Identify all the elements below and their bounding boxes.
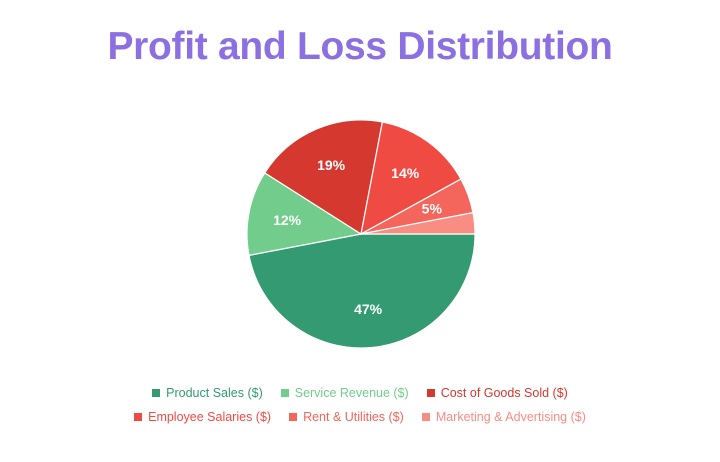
legend-row: Employee Salaries ($)Rent & Utilities ($… bbox=[0, 410, 720, 424]
pie-svg: 47%12%19%14%5% bbox=[247, 120, 475, 348]
legend-item-label: Marketing & Advertising ($) bbox=[436, 410, 586, 424]
legend-item[interactable]: Product Sales ($) bbox=[152, 386, 263, 400]
legend-swatch-icon bbox=[152, 389, 160, 397]
legend-item[interactable]: Employee Salaries ($) bbox=[134, 410, 271, 424]
legend-item-label: Product Sales ($) bbox=[166, 386, 263, 400]
legend-item[interactable]: Service Revenue ($) bbox=[281, 386, 409, 400]
pie-slice-label: 47% bbox=[354, 301, 383, 317]
legend-row: Product Sales ($)Service Revenue ($)Cost… bbox=[0, 386, 720, 400]
legend-swatch-icon bbox=[281, 389, 289, 397]
chart-title: Profit and Loss Distribution bbox=[0, 24, 720, 70]
legend-item[interactable]: Cost of Goods Sold ($) bbox=[427, 386, 568, 400]
legend-item-label: Cost of Goods Sold ($) bbox=[441, 386, 568, 400]
legend-swatch-icon bbox=[289, 413, 297, 421]
legend-swatch-icon bbox=[134, 413, 142, 421]
pie-slice[interactable] bbox=[249, 234, 475, 348]
legend-item-label: Service Revenue ($) bbox=[295, 386, 409, 400]
pie-chart-card: Profit and Loss Distribution 47%12%19%14… bbox=[0, 0, 720, 462]
pie-slice-label: 14% bbox=[391, 165, 420, 181]
legend-item[interactable]: Marketing & Advertising ($) bbox=[422, 410, 586, 424]
pie-slice-label: 12% bbox=[273, 212, 302, 228]
legend-item-label: Rent & Utilities ($) bbox=[303, 410, 404, 424]
chart-legend: Product Sales ($)Service Revenue ($)Cost… bbox=[0, 386, 720, 424]
pie-slice-label: 19% bbox=[317, 157, 346, 173]
pie-slice-label: 5% bbox=[422, 201, 443, 217]
pie-chart-graphic: 47%12%19%14%5% bbox=[247, 120, 475, 348]
legend-swatch-icon bbox=[422, 413, 430, 421]
legend-swatch-icon bbox=[427, 389, 435, 397]
legend-item[interactable]: Rent & Utilities ($) bbox=[289, 410, 404, 424]
legend-item-label: Employee Salaries ($) bbox=[148, 410, 271, 424]
